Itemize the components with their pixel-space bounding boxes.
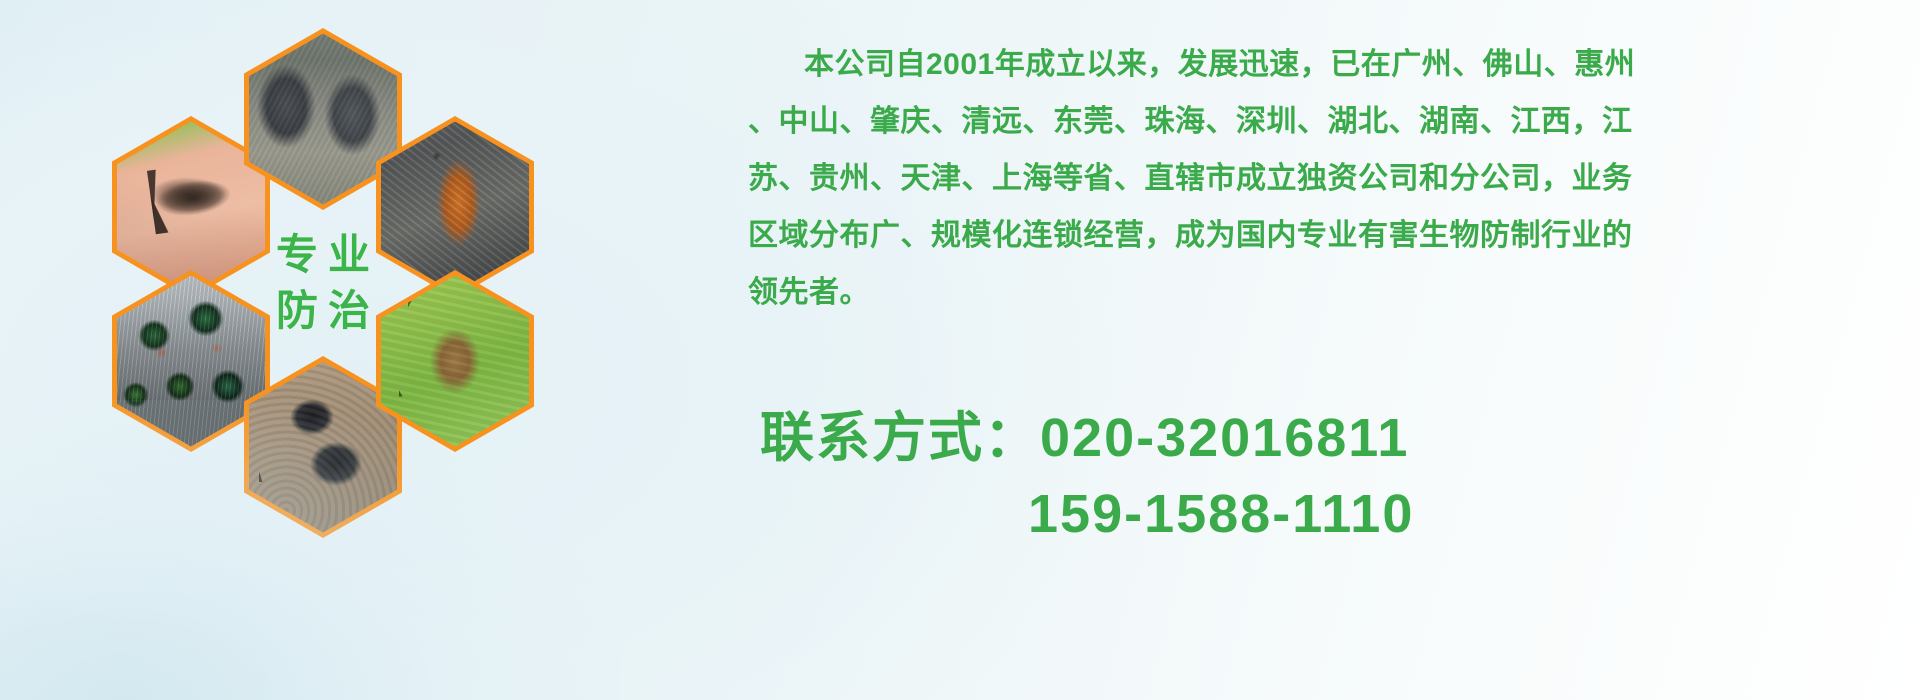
contact-block: 联系方式：020-32016811 159-1588-1110 xyxy=(760,400,1760,552)
intro-line-4: 区域分布广、规模化连锁经营，成为国内专业有害生物防制行业的 xyxy=(748,207,1888,264)
mosquito-photo xyxy=(117,122,265,293)
honeycomb-image-cluster: 专业 防治 xyxy=(96,8,596,568)
promo-banner: 专业 防治 本公司自2001年成立以来，发展迅速，已在广州、佛山、惠州 、中山、… xyxy=(0,0,1920,700)
intro-line-3: 苏、贵州、天津、上海等省、直辖市成立独资公司和分公司，业务 xyxy=(748,150,1888,207)
intro-line-2: 、中山、肇庆、清远、东莞、珠海、深圳、湖北、湖南、江西，江 xyxy=(748,93,1888,150)
intro-line-1: 本公司自2001年成立以来，发展迅速，已在广州、佛山、惠州 xyxy=(748,36,1888,93)
rat-photo xyxy=(249,34,397,205)
stink-bug-photo xyxy=(381,276,529,447)
company-intro-paragraph: 本公司自2001年成立以来，发展迅速，已在广州、佛山、惠州 、中山、肇庆、清远、… xyxy=(748,36,1888,321)
intro-line-5: 领先者。 xyxy=(748,264,1888,321)
ant-photo xyxy=(249,362,397,533)
honeycomb-label-line-1: 专业 xyxy=(266,230,380,280)
flies-photo xyxy=(117,276,265,447)
contact-phone-secondary[interactable]: 159-1588-1110 xyxy=(760,476,1760,552)
honeycomb-label-line-2: 防治 xyxy=(266,286,380,336)
contact-phone-primary[interactable]: 联系方式：020-32016811 xyxy=(760,400,1760,476)
cockroach-photo xyxy=(381,122,529,293)
